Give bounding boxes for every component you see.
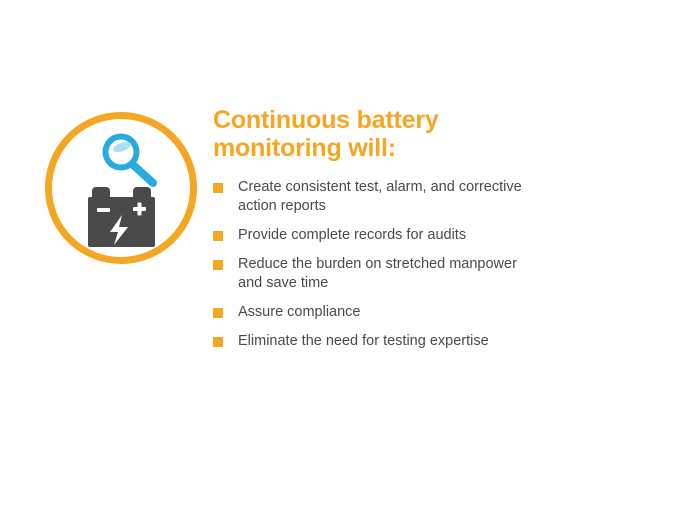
list-item-label: Reduce the burden on stretched manpower … [238,255,653,293]
list-item: Eliminate the need for testing expertise [213,332,653,351]
list-item: Reduce the burden on stretched manpower … [213,255,653,293]
list-item-label: Provide complete records for audits [238,226,653,245]
bullet-square-icon [213,183,223,193]
minus-terminal-symbol [97,208,110,212]
bullet-square-icon [213,260,223,270]
magnifying-glass-icon [106,137,154,184]
battery-body-icon [88,197,155,247]
battery-terminals-icon [92,187,151,197]
page-title: Continuous battery monitoring will: [213,106,653,162]
list-item-label: Assure compliance [238,303,653,322]
list-item-label: Create consistent test, alarm, and corre… [238,178,653,216]
list-item: Create consistent test, alarm, and corre… [213,178,653,216]
battery-monitoring-icon [44,111,198,265]
bullet-square-icon [213,308,223,318]
list-item-label: Eliminate the need for testing expertise [238,332,653,351]
list-item: Provide complete records for audits [213,226,653,245]
list-item: Assure compliance [213,303,653,322]
benefits-list: Create consistent test, alarm, and corre… [213,178,653,351]
bullet-square-icon [213,231,223,241]
content-column: Continuous battery monitoring will: Crea… [213,106,653,351]
bullet-square-icon [213,337,223,347]
slide-canvas: Continuous battery monitoring will: Crea… [0,0,692,514]
